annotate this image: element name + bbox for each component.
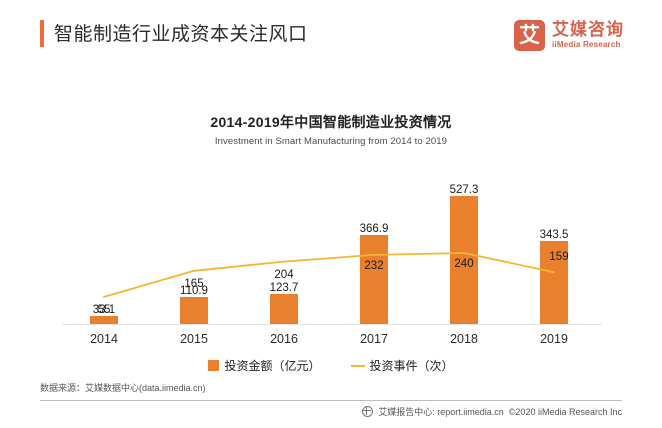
brand-logo: 艾 艾媒咨询 iiMedia Research [514, 20, 624, 51]
page-footer: 艾媒报告中心: report.iimedia.cn ©2020 iiMedia … [0, 405, 662, 418]
logo-text: 艾媒咨询 iiMedia Research [552, 21, 624, 50]
footer-divider [40, 400, 622, 401]
x-tick-2018: 2018 [429, 332, 499, 346]
logo-name-cn: 艾媒咨询 [552, 21, 624, 39]
x-tick-2015: 2015 [159, 332, 229, 346]
chart-legend: 投资金额（亿元） 投资事件（次） [0, 357, 662, 374]
legend-item-investment-events: 投资事件（次） [351, 357, 454, 374]
chart-plot-area: 33.1 110.9 123.7 366.9 527.3 343.5 55 16… [62, 165, 602, 325]
x-tick-2016: 2016 [249, 332, 319, 346]
x-tick-2017: 2017 [339, 332, 409, 346]
legend-item-investment-amount: 投资金额（亿元） [208, 357, 320, 374]
footer-report-center: 艾媒报告中心: report.iimedia.cn [378, 405, 504, 418]
title-accent-bar [40, 20, 44, 47]
x-tick-2014: 2014 [69, 332, 139, 346]
footer-copyright: ©2020 iiMedia Research Inc [509, 407, 622, 417]
line-value-2017: 232 [351, 260, 397, 272]
line-value-2014: 55 [81, 304, 127, 316]
x-axis-labels: 2014 2015 2016 2017 2018 2019 [62, 332, 602, 352]
legend-bar-swatch-icon [208, 360, 219, 371]
legend-label-investment-events: 投资事件（次） [370, 357, 454, 374]
line-value-2016: 204 [261, 269, 307, 281]
source-note: 数据来源：艾媒数据中心(data.iimedia.cn) [40, 381, 206, 394]
page-header: 智能制造行业成资本关注风口 艾 艾媒咨询 iiMedia Research [0, 0, 662, 78]
line-series-investment-events [62, 165, 602, 325]
x-tick-2019: 2019 [519, 332, 589, 346]
legend-line-swatch-icon [351, 365, 365, 367]
globe-icon [362, 406, 373, 417]
legend-label-investment-amount: 投资金额（亿元） [224, 357, 320, 374]
logo-name-en: iiMedia Research [552, 39, 624, 50]
line-value-2018: 240 [441, 258, 487, 270]
line-value-2019: 159 [536, 251, 582, 263]
line-value-2015: 165 [171, 278, 217, 290]
chart-subtitle: Investment in Smart Manufacturing from 2… [0, 136, 662, 147]
page-title: 智能制造行业成资本关注风口 [54, 19, 308, 46]
logo-mark-icon: 艾 [514, 20, 545, 51]
chart-title: 2014-2019年中国智能制造业投资情况 [0, 112, 662, 132]
